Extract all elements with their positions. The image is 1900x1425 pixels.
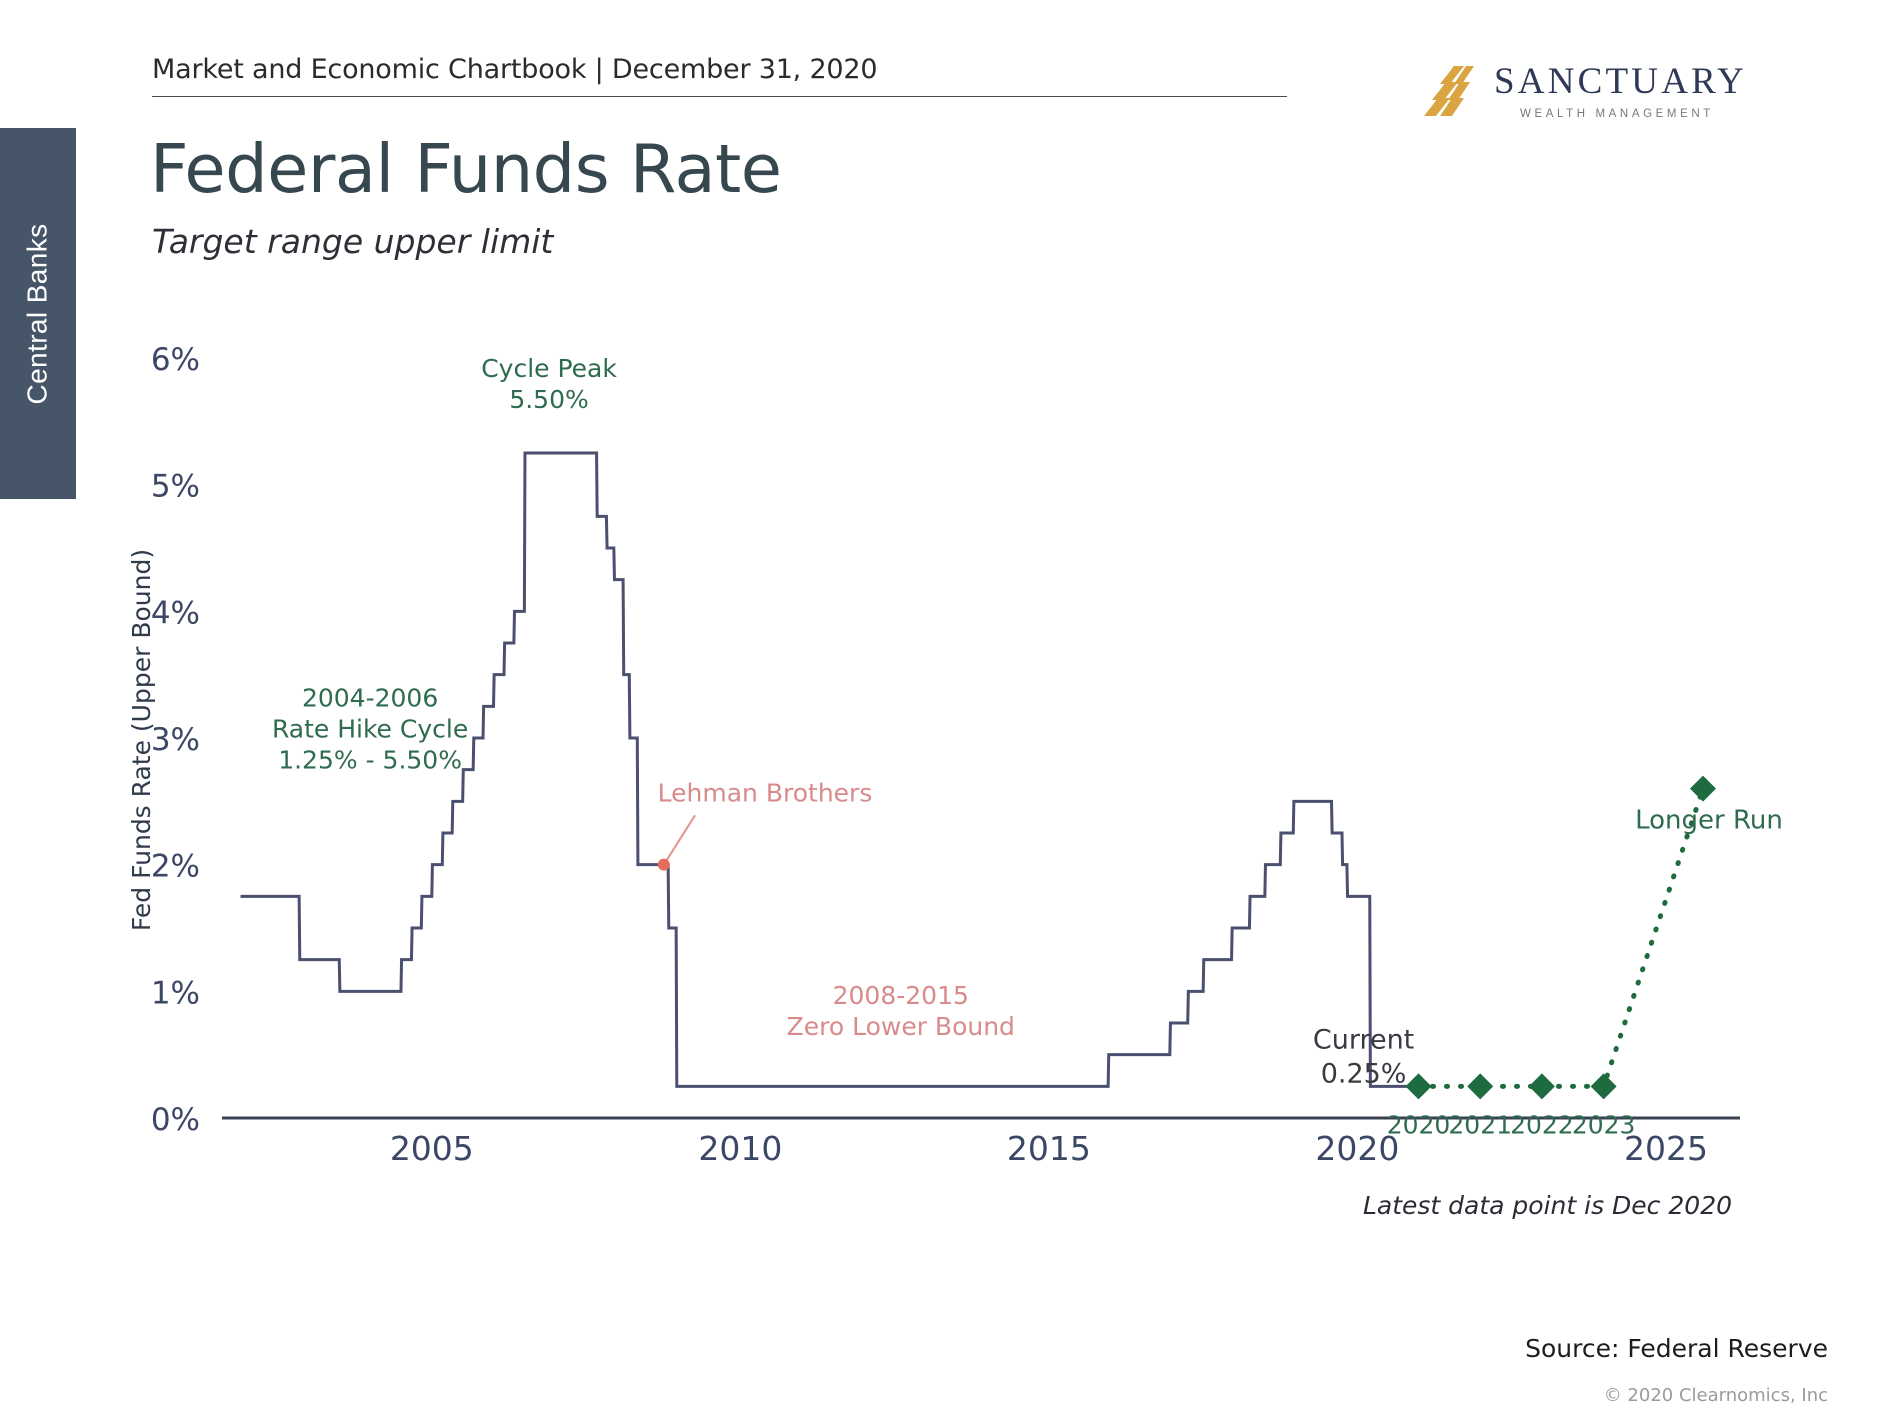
projection-diamond-marker <box>1690 776 1716 802</box>
fed-funds-rate-line <box>241 453 1419 1086</box>
brand-tagline: WEALTH MANAGEMENT <box>1520 108 1747 120</box>
brand-logo: SANCTUARY WEALTH MANAGEMENT <box>1424 60 1747 123</box>
projection-year-label: 2022 <box>1510 1110 1574 1139</box>
wheat-chevron-icon <box>1424 64 1480 123</box>
longer-run-label: Longer Run <box>1635 806 1783 836</box>
annotation-lehman-brothers: Lehman Brothers <box>658 778 873 807</box>
annotation-zero-lower-bound: 2008-2015 <box>833 981 969 1010</box>
x-tick-label: 2005 <box>390 1129 474 1168</box>
brand-logo-text: SANCTUARY WEALTH MANAGEMENT <box>1494 60 1747 120</box>
chartbook-header-text: Market and Economic Chartbook | December… <box>152 54 1292 85</box>
annotation-rate-hike-cycle: 2004-2006 <box>302 683 438 712</box>
annotation-cycle-peak: Cycle Peak <box>481 354 617 383</box>
y-tick-label: 6% <box>151 342 200 378</box>
projection-dotted-line <box>1419 789 1703 1087</box>
projection-diamond-marker <box>1529 1073 1555 1099</box>
projection-year-label: 2021 <box>1448 1110 1512 1139</box>
x-tick-label: 2025 <box>1624 1129 1708 1168</box>
x-tick-label: 2020 <box>1315 1129 1399 1168</box>
x-tick-label: 2010 <box>698 1129 782 1168</box>
projection-diamond-marker <box>1406 1073 1432 1099</box>
annotation-current-rate: Current <box>1313 1024 1414 1055</box>
page-title: Federal Funds Rate <box>150 130 782 208</box>
y-tick-label: 4% <box>151 595 200 631</box>
annotation-zero-lower-bound: Zero Lower Bound <box>787 1012 1015 1041</box>
y-tick-label: 5% <box>151 469 200 505</box>
y-tick-label: 2% <box>151 849 200 885</box>
y-tick-label: 0% <box>151 1102 200 1138</box>
chartbook-header: Market and Economic Chartbook | December… <box>152 54 1292 97</box>
copyright-note: © 2020 Clearnomics, Inc <box>1604 1385 1828 1406</box>
x-tick-label: 2015 <box>1007 1129 1091 1168</box>
annotation-anchor-dot <box>658 859 670 871</box>
projection-year-labels: 2020202120222023 <box>1387 1110 1636 1139</box>
y-axis-title: Fed Funds Rate (Upper Bound) <box>127 549 156 931</box>
x-axis-ticks: 20052010201520202025 <box>390 1129 1708 1168</box>
annotation-rate-hike-cycle: 1.25% - 5.50% <box>278 745 462 774</box>
chart-annotations: Cycle Peak5.50%2004-2006Rate Hike Cycle1… <box>272 354 1414 1089</box>
source-note: Source: Federal Reserve <box>1525 1334 1828 1363</box>
annotation-rate-hike-cycle: Rate Hike Cycle <box>272 714 468 743</box>
page-subtitle: Target range upper limit <box>152 222 553 261</box>
section-tab-label: Central Banks <box>22 223 54 404</box>
annotation-current-rate: 0.25% <box>1321 1058 1407 1089</box>
annotation-cycle-peak: 5.50% <box>509 385 588 414</box>
projection-diamond-marker <box>1591 1073 1617 1099</box>
projection-markers <box>1406 776 1716 1100</box>
projection-year-label: 2020 <box>1387 1110 1451 1139</box>
header-divider <box>152 96 1287 97</box>
brand-name: SANCTUARY <box>1494 60 1747 103</box>
projection-diamond-marker <box>1467 1073 1493 1099</box>
annotation-leader-line <box>664 815 695 864</box>
section-tab-central-banks[interactable]: Central Banks <box>0 128 76 499</box>
federal-funds-rate-chart: 0%1%2%3%4%5%6%Fed Funds Rate (Upper Boun… <box>0 0 1900 1425</box>
chart-canvas: 0%1%2%3%4%5%6%Fed Funds Rate (Upper Boun… <box>0 0 1900 1425</box>
y-tick-label: 3% <box>151 722 200 758</box>
y-axis-ticks: 0%1%2%3%4%5%6% <box>151 342 200 1138</box>
latest-data-note: Latest data point is Dec 2020 <box>1363 1191 1732 1220</box>
y-tick-label: 1% <box>151 975 200 1011</box>
projection-year-label: 2023 <box>1572 1110 1636 1139</box>
